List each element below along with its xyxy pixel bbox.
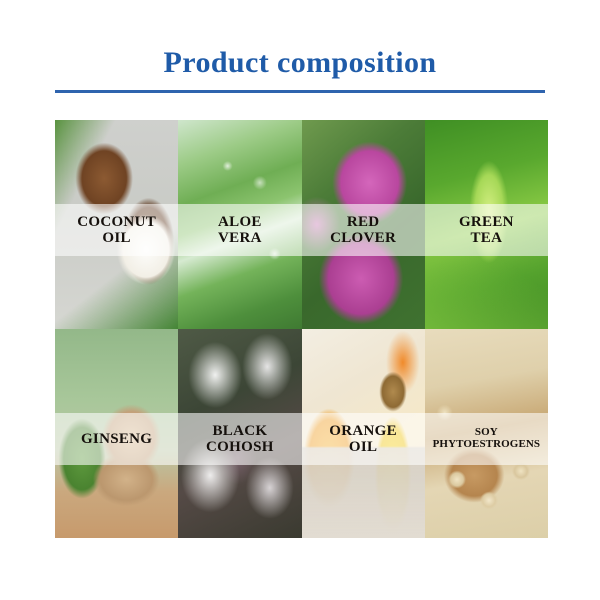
- ingredient-label: BLACKCOHOSH: [204, 423, 276, 455]
- ingredient-label: SOYPHYTOESTROGENS: [431, 427, 543, 451]
- ingredient-label-band: GREENTEA: [425, 204, 548, 256]
- ingredient-label: GREENTEA: [457, 214, 516, 246]
- ingredient-label-band: ORANGEOIL: [302, 413, 425, 465]
- ingredient-tile[interactable]: REDCLOVER: [302, 120, 425, 329]
- ingredient-tile[interactable]: SOYPHYTOESTROGENS: [425, 329, 548, 538]
- ingredient-tile[interactable]: ORANGEOIL: [302, 329, 425, 538]
- ingredient-tile[interactable]: BLACKCOHOSH: [178, 329, 301, 538]
- ingredient-label-band: ALOEVERA: [178, 204, 301, 256]
- ingredient-label: COCONUTOIL: [75, 214, 158, 246]
- title-divider: [55, 90, 545, 93]
- page-title: Product composition: [0, 46, 600, 80]
- ingredient-grid: COCONUTOILALOEVERAREDCLOVERGREENTEAGINSE…: [55, 120, 548, 538]
- ingredient-label-band: REDCLOVER: [302, 204, 425, 256]
- ingredient-label: REDCLOVER: [328, 214, 398, 246]
- ingredient-label: ORANGEOIL: [327, 423, 399, 455]
- ingredient-tile[interactable]: COCONUTOIL: [55, 120, 178, 329]
- ingredient-tile[interactable]: GREENTEA: [425, 120, 548, 329]
- ingredient-label-band: GINSENG: [55, 413, 178, 465]
- ingredient-label-band: COCONUTOIL: [55, 204, 178, 256]
- ingredient-tile[interactable]: ALOEVERA: [178, 120, 301, 329]
- ingredient-label-band: BLACKCOHOSH: [178, 413, 301, 465]
- ingredient-label-band: SOYPHYTOESTROGENS: [425, 413, 548, 465]
- ingredient-label: GINSENG: [79, 431, 154, 447]
- ingredient-label: ALOEVERA: [216, 214, 264, 246]
- page-header: Product composition: [0, 0, 600, 120]
- ingredient-tile[interactable]: GINSENG: [55, 329, 178, 538]
